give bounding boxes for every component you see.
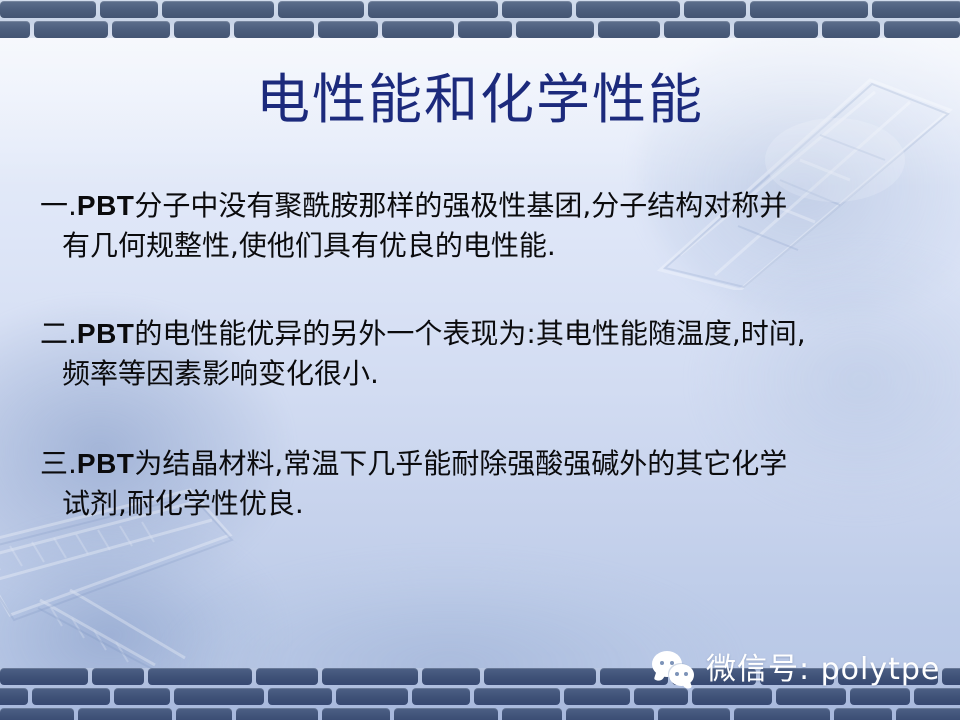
background-cloud-left-lower bbox=[0, 520, 280, 720]
paragraph-line1-1: 分子中没有聚酰胺那样的强极性基团,分子结构对称并 bbox=[134, 189, 787, 222]
wechat-bubble-large bbox=[652, 651, 682, 677]
brick-row bbox=[0, 21, 960, 38]
body-paragraph-3: 三.PBT为结晶材料,常温下几乎能耐除强酸强碱外的其它化学试剂,耐化学性优良. bbox=[40, 444, 924, 524]
paragraph-marker-1: 一. bbox=[40, 189, 77, 222]
wechat-eye bbox=[660, 661, 664, 665]
brick-row bbox=[0, 668, 960, 685]
wechat-eye bbox=[675, 672, 679, 676]
paragraph-latin-3: PBT bbox=[77, 448, 135, 479]
body-paragraph-2: 二.PBT的电性能优异的另外一个表现为:其电性能随温度,时间,频率等因素影响变化… bbox=[40, 314, 924, 394]
wechat-icon bbox=[652, 651, 696, 689]
brick-row bbox=[0, 708, 960, 720]
slide-body: 一.PBT分子中没有聚酰胺那样的强极性基团,分子结构对称并有几何规整性,使他们具… bbox=[40, 186, 924, 524]
wechat-eye bbox=[684, 672, 688, 676]
background-cloud-bottom bbox=[170, 560, 730, 720]
paragraph-line1-2: 的电性能优异的另外一个表现为:其电性能随温度,时间, bbox=[134, 317, 805, 350]
brick-row bbox=[0, 1, 960, 18]
body-paragraph-1: 一.PBT分子中没有聚酰胺那样的强极性基团,分子结构对称并有几何规整性,使他们具… bbox=[40, 186, 924, 266]
wechat-bubble-small bbox=[669, 664, 694, 686]
wechat-id-text: 微信号: polytpe bbox=[706, 653, 940, 687]
paragraph-latin-1: PBT bbox=[77, 190, 135, 221]
wechat-watermark: 微信号: polytpe bbox=[652, 648, 940, 692]
paragraph-line2-2: 频率等因素影响变化很小. bbox=[62, 357, 379, 390]
paragraph-marker-3: 三. bbox=[40, 447, 77, 480]
slide-canvas: 电性能和化学性能 一.PBT分子中没有聚酰胺那样的强极性基团,分子结构对称并有几… bbox=[0, 0, 960, 720]
slide-title: 电性能和化学性能 bbox=[0, 68, 960, 132]
brick-row bbox=[0, 688, 960, 705]
wechat-eye bbox=[670, 661, 674, 665]
paragraph-line1-3: 为结晶材料,常温下几乎能耐除强酸强碱外的其它化学 bbox=[134, 447, 787, 480]
paragraph-marker-2: 二. bbox=[40, 317, 77, 350]
bottom-brick-band bbox=[0, 668, 960, 720]
paragraph-latin-2: PBT bbox=[77, 318, 135, 349]
top-brick-band bbox=[0, 0, 960, 38]
paragraph-line2-3: 试剂,耐化学性优良. bbox=[62, 487, 304, 520]
paragraph-line2-1: 有几何规整性,使他们具有优良的电性能. bbox=[62, 229, 556, 262]
